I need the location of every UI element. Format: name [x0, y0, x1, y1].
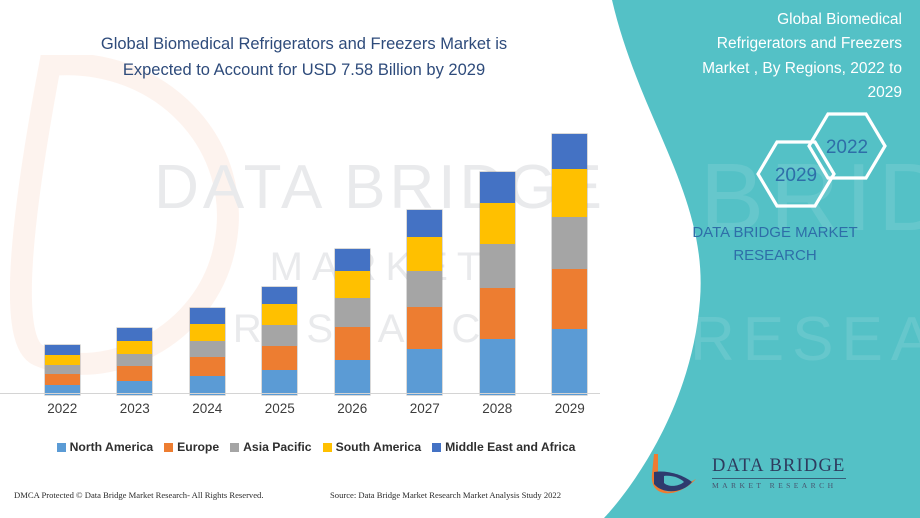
- stacked-bars: [26, 112, 606, 395]
- bar-slot-2022: [26, 112, 99, 395]
- legend-label: Asia Pacific: [243, 440, 311, 454]
- footer-source: Source: Data Bridge Market Research Mark…: [330, 490, 561, 500]
- panel-brand-line-2: RESEARCH: [650, 245, 900, 268]
- bar-slot-2023: [99, 112, 172, 395]
- stacked-bar-2029[interactable]: [552, 134, 587, 395]
- segment-asia-pacific-2027[interactable]: [407, 271, 442, 307]
- segment-asia-pacific-2022[interactable]: [45, 365, 80, 374]
- logo-secondary-text: MARKET RESEARCH: [712, 481, 846, 490]
- segment-south-america-2023[interactable]: [117, 341, 152, 354]
- segment-south-america-2029[interactable]: [552, 169, 587, 217]
- legend-label: Middle East and Africa: [445, 440, 575, 454]
- segment-middle-east-and-africa-2024[interactable]: [190, 308, 225, 324]
- panel-title-line-3: Market , By Regions, 2022 to: [652, 57, 902, 81]
- x-axis-line: [0, 393, 600, 394]
- hexagon-2022-label: 2022: [826, 137, 868, 158]
- x-label-2026: 2026: [316, 398, 389, 422]
- stacked-bar-2026[interactable]: [335, 249, 370, 395]
- logo-divider: [712, 478, 846, 479]
- panel-title-line-1: Global Biomedical: [652, 8, 902, 32]
- legend-item-asia-pacific[interactable]: Asia Pacific: [230, 440, 311, 454]
- segment-south-america-2022[interactable]: [45, 355, 80, 365]
- stacked-bar-2028[interactable]: [480, 172, 515, 395]
- bar-slot-2027: [389, 112, 462, 395]
- segment-middle-east-and-africa-2025[interactable]: [262, 287, 297, 304]
- bar-slot-2029: [534, 112, 607, 395]
- segment-middle-east-and-africa-2026[interactable]: [335, 249, 370, 271]
- company-logo: DATA BRIDGE MARKET RESEARCH: [648, 444, 898, 502]
- x-label-2029: 2029: [534, 398, 607, 422]
- chart-legend: North AmericaEuropeAsia PacificSouth Ame…: [26, 440, 606, 454]
- hexagon-2022-badge: 2022: [809, 114, 885, 178]
- chart-plot-area: [26, 110, 606, 395]
- segment-asia-pacific-2023[interactable]: [117, 354, 152, 366]
- page-title: Global Biomedical Refrigerators and Free…: [24, 32, 584, 83]
- stacked-bar-2025[interactable]: [262, 287, 297, 395]
- infographic-canvas: DATA BRIDGE MARKET RESEARCH BRIDGE RESEA…: [0, 0, 920, 518]
- segment-north-america-2028[interactable]: [480, 339, 515, 395]
- segment-europe-2024[interactable]: [190, 357, 225, 376]
- legend-swatch-icon: [323, 443, 332, 452]
- legend-swatch-icon: [432, 443, 441, 452]
- segment-south-america-2028[interactable]: [480, 203, 515, 244]
- footer-copyright: DMCA Protected © Data Bridge Market Rese…: [14, 490, 264, 500]
- segment-asia-pacific-2029[interactable]: [552, 217, 587, 269]
- x-axis-labels: 20222023202420252026202720282029: [26, 398, 606, 422]
- legend-label: North America: [70, 440, 154, 454]
- bar-slot-2026: [316, 112, 389, 395]
- logo-primary-text: DATA BRIDGE: [712, 456, 846, 477]
- hexagon-year-badges: 2022 2029: [680, 108, 900, 213]
- x-label-2027: 2027: [389, 398, 462, 422]
- stacked-bar-2023[interactable]: [117, 328, 152, 395]
- segment-south-america-2026[interactable]: [335, 271, 370, 299]
- x-label-2022: 2022: [26, 398, 99, 422]
- x-label-2023: 2023: [99, 398, 172, 422]
- segment-asia-pacific-2028[interactable]: [480, 244, 515, 288]
- bar-slot-2028: [461, 112, 534, 395]
- segment-europe-2028[interactable]: [480, 288, 515, 339]
- segment-south-america-2024[interactable]: [190, 324, 225, 341]
- panel-brand-line-1: DATA BRIDGE MARKET: [650, 222, 900, 245]
- segment-middle-east-and-africa-2022[interactable]: [45, 345, 80, 355]
- stacked-bar-2027[interactable]: [407, 210, 442, 395]
- legend-swatch-icon: [164, 443, 173, 452]
- x-label-2024: 2024: [171, 398, 244, 422]
- page-title-line-1: Global Biomedical Refrigerators and Free…: [24, 32, 584, 58]
- legend-swatch-icon: [230, 443, 239, 452]
- panel-brand-text: DATA BRIDGE MARKET RESEARCH: [650, 222, 900, 267]
- segment-europe-2022[interactable]: [45, 374, 80, 385]
- segment-north-america-2029[interactable]: [552, 329, 587, 395]
- segment-europe-2029[interactable]: [552, 269, 587, 329]
- bar-slot-2024: [171, 112, 244, 395]
- segment-middle-east-and-africa-2028[interactable]: [480, 172, 515, 203]
- legend-label: Europe: [177, 440, 219, 454]
- segment-europe-2025[interactable]: [262, 346, 297, 370]
- segment-asia-pacific-2024[interactable]: [190, 341, 225, 358]
- segment-middle-east-and-africa-2023[interactable]: [117, 328, 152, 341]
- legend-item-europe[interactable]: Europe: [164, 440, 219, 454]
- segment-middle-east-and-africa-2027[interactable]: [407, 210, 442, 237]
- legend-item-south-america[interactable]: South America: [323, 440, 422, 454]
- svg-text:RESEARCH: RESEARCH: [690, 305, 920, 374]
- segment-south-america-2025[interactable]: [262, 304, 297, 325]
- segment-asia-pacific-2025[interactable]: [262, 325, 297, 346]
- legend-item-middle-east-and-africa[interactable]: Middle East and Africa: [432, 440, 575, 454]
- segment-europe-2027[interactable]: [407, 307, 442, 349]
- segment-asia-pacific-2026[interactable]: [335, 298, 370, 327]
- segment-south-america-2027[interactable]: [407, 237, 442, 271]
- stacked-bar-2022[interactable]: [45, 345, 80, 395]
- x-label-2028: 2028: [461, 398, 534, 422]
- legend-item-north-america[interactable]: North America: [57, 440, 154, 454]
- hexagon-2029-label: 2029: [775, 165, 817, 186]
- hexagon-2029-badge: 2029: [758, 142, 834, 206]
- panel-title: Global Biomedical Refrigerators and Free…: [652, 8, 902, 106]
- segment-north-america-2026[interactable]: [335, 360, 370, 395]
- segment-north-america-2027[interactable]: [407, 349, 442, 395]
- segment-middle-east-and-africa-2029[interactable]: [552, 134, 587, 169]
- panel-title-line-4: 2029: [652, 81, 902, 105]
- stacked-bar-2024[interactable]: [190, 308, 225, 395]
- segment-europe-2026[interactable]: [335, 327, 370, 360]
- legend-swatch-icon: [57, 443, 66, 452]
- segment-north-america-2025[interactable]: [262, 370, 297, 395]
- panel-title-line-2: Refrigerators and Freezers: [652, 32, 902, 56]
- x-label-2025: 2025: [244, 398, 317, 422]
- logo-text-block: DATA BRIDGE MARKET RESEARCH: [712, 456, 846, 491]
- segment-europe-2023[interactable]: [117, 366, 152, 381]
- page-title-line-2: Expected to Account for USD 7.58 Billion…: [24, 58, 584, 84]
- legend-label: South America: [336, 440, 422, 454]
- data-bridge-logo-icon: [648, 450, 702, 496]
- bar-slot-2025: [244, 112, 317, 395]
